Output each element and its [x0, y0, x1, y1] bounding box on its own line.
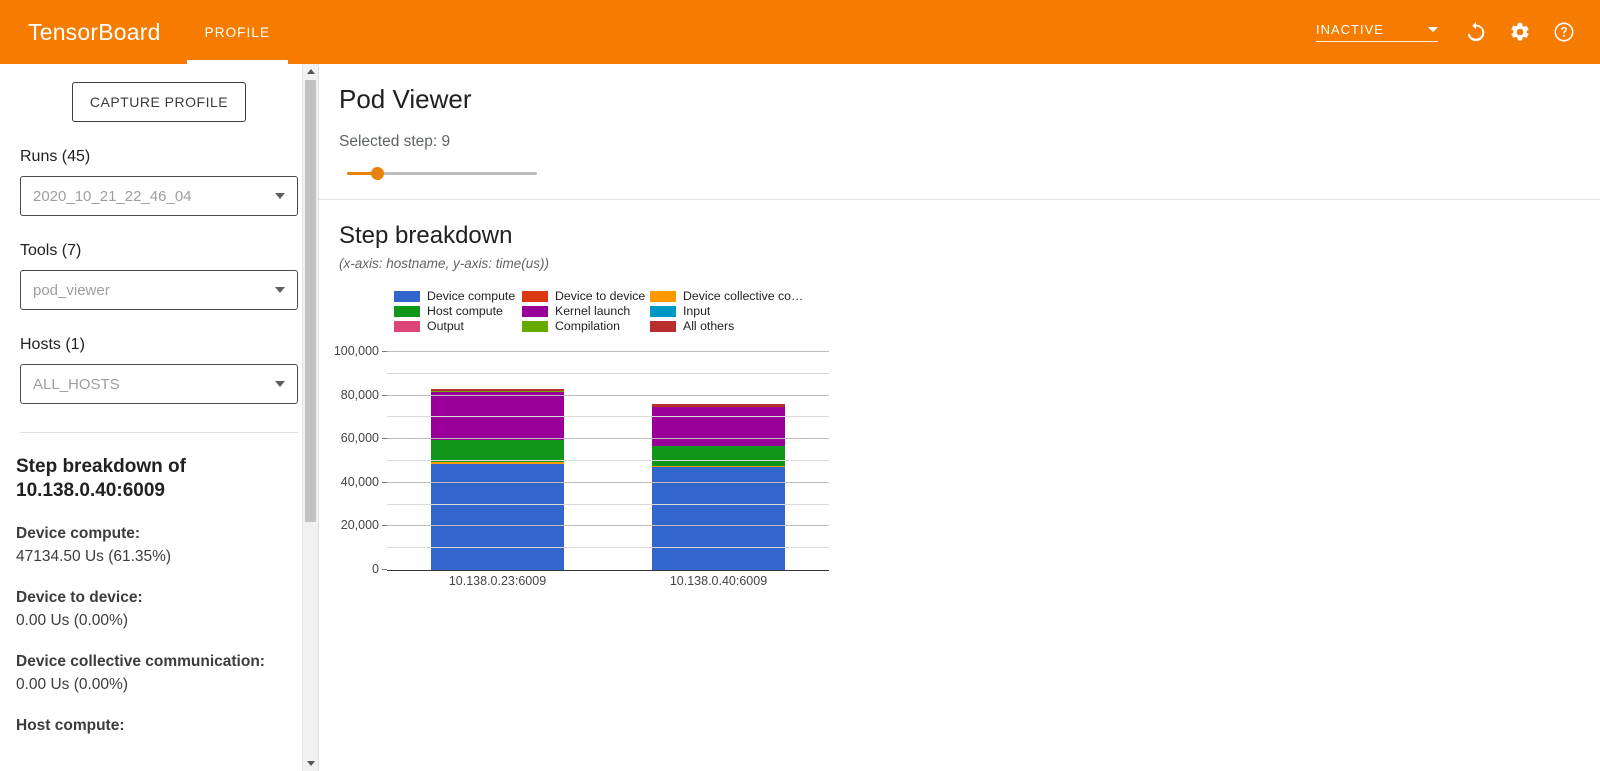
- gridline-major: 40,000: [387, 482, 829, 483]
- hosts-label: Hosts (1): [20, 336, 298, 354]
- step-slider[interactable]: [347, 165, 537, 181]
- capture-profile-button[interactable]: CAPTURE PROFILE: [72, 82, 246, 122]
- legend-swatch-icon: [394, 306, 420, 317]
- y-axis-tick-label: 100,000: [334, 344, 379, 358]
- y-tick-mark: [382, 525, 387, 526]
- gridline-minor: [387, 373, 829, 374]
- chevron-down-icon: [1428, 27, 1438, 32]
- topbar-actions: INACTIVE: [1316, 0, 1600, 64]
- help-button[interactable]: [1546, 14, 1582, 50]
- y-tick-mark: [382, 351, 387, 352]
- status-dropdown-value: INACTIVE: [1316, 22, 1384, 37]
- legend-label: Compilation: [555, 319, 620, 334]
- y-axis-tick-label: 20,000: [341, 518, 379, 532]
- caret-down-icon: [307, 761, 315, 766]
- y-axis-tick-label: 80,000: [341, 388, 379, 402]
- stat-label: Device compute:: [16, 524, 298, 545]
- x-axis-tick-label: 10.138.0.40:6009: [670, 574, 767, 588]
- tools-select[interactable]: pod_viewer: [20, 270, 298, 310]
- tools-select-value: pod_viewer: [33, 282, 110, 299]
- y-tick-mark: [382, 569, 387, 570]
- help-icon: [1553, 21, 1575, 43]
- slider-thumb[interactable]: [371, 167, 384, 180]
- gridline-major: 20,000: [387, 525, 829, 526]
- field-hosts: Hosts (1) ALL_HOSTS: [20, 336, 298, 404]
- gridline-minor: [387, 504, 829, 505]
- legend-swatch-icon: [394, 321, 420, 332]
- y-tick-mark: [382, 438, 387, 439]
- plot-area: 020,00040,00060,00080,000100,00010.138.0…: [387, 352, 829, 571]
- legend-swatch-icon: [650, 291, 676, 302]
- stat-host-compute: Host compute:: [16, 716, 298, 737]
- scrollbar-thumb[interactable]: [305, 80, 316, 522]
- app-brand: TensorBoard: [0, 0, 187, 64]
- step-breakdown-panel: Step breakdown of 10.138.0.40:6009 Devic…: [0, 433, 318, 737]
- selected-step-label: Selected step: 9: [339, 133, 1600, 151]
- legend-label: Input: [683, 304, 710, 319]
- topbar-spacer: [288, 0, 1316, 64]
- chevron-down-icon: [275, 381, 285, 387]
- bar-segment[interactable]: [431, 440, 564, 462]
- y-axis-tick-label: 60,000: [341, 431, 379, 445]
- legend-swatch-icon: [522, 291, 548, 302]
- stat-value: 0.00 Us (0.00%): [16, 673, 298, 696]
- bar-segment[interactable]: [431, 464, 564, 570]
- legend-item[interactable]: Host compute: [394, 304, 522, 319]
- scroll-down-button[interactable]: [303, 756, 318, 771]
- stat-label: Host compute:: [16, 716, 298, 737]
- gridline-minor: [387, 416, 829, 417]
- page-header: Pod Viewer Selected step: 9: [319, 64, 1600, 200]
- legend-swatch-icon: [394, 291, 420, 302]
- refresh-icon: [1465, 21, 1487, 43]
- field-tools: Tools (7) pod_viewer: [20, 242, 298, 310]
- chart-plot: 020,00040,00060,00080,000100,00010.138.0…: [339, 342, 829, 592]
- gridline-minor: [387, 460, 829, 461]
- hosts-select-value: ALL_HOSTS: [33, 376, 120, 393]
- legend-swatch-icon: [650, 321, 676, 332]
- stat-device-to-device: Device to device: 0.00 Us (0.00%): [16, 588, 298, 632]
- chart-title: Step breakdown: [339, 222, 1600, 250]
- legend-item[interactable]: Device compute: [394, 289, 522, 304]
- legend-item[interactable]: All others: [650, 319, 810, 334]
- caret-up-icon: [307, 69, 315, 74]
- gridline-major: 80,000: [387, 395, 829, 396]
- x-axis-tick-label: 10.138.0.23:6009: [449, 574, 546, 588]
- gridline-major: 60,000: [387, 438, 829, 439]
- refresh-button[interactable]: [1458, 14, 1494, 50]
- legend-label: Device compute: [427, 289, 515, 304]
- legend-item[interactable]: Compilation: [522, 319, 650, 334]
- app-body: CAPTURE PROFILE Runs (45) 2020_10_21_22_…: [0, 64, 1600, 771]
- legend-swatch-icon: [522, 306, 548, 317]
- field-runs: Runs (45) 2020_10_21_22_46_04: [20, 148, 298, 216]
- legend-label: Host compute: [427, 304, 503, 319]
- bar-group: [387, 352, 829, 570]
- legend-item[interactable]: Kernel launch: [522, 304, 650, 319]
- gridline-major: 0: [387, 569, 829, 570]
- stat-value: 47134.50 Us (61.35%): [16, 545, 298, 568]
- bar-stack[interactable]: [652, 404, 785, 570]
- runs-select-value: 2020_10_21_22_46_04: [33, 188, 192, 205]
- y-axis-tick-label: 0: [372, 562, 379, 576]
- stat-device-collective-communication: Device collective communication: 0.00 Us…: [16, 652, 298, 696]
- sidebar-scrollbar[interactable]: [302, 64, 318, 771]
- scroll-up-button[interactable]: [303, 64, 318, 79]
- legend-label: All others: [683, 319, 734, 334]
- stat-device-compute: Device compute: 47134.50 Us (61.35%): [16, 524, 298, 568]
- capture-profile-wrap: CAPTURE PROFILE: [20, 64, 298, 122]
- legend-item[interactable]: Device collective com…: [650, 289, 810, 304]
- stat-label: Device collective communication:: [16, 652, 298, 673]
- y-axis-tick-label: 40,000: [341, 475, 379, 489]
- hosts-select[interactable]: ALL_HOSTS: [20, 364, 298, 404]
- sidebar: CAPTURE PROFILE Runs (45) 2020_10_21_22_…: [0, 64, 319, 771]
- chart-subtitle: (x-axis: hostname, y-axis: time(us)): [339, 256, 1600, 271]
- chart-legend: Device computeDevice to deviceDevice col…: [394, 289, 839, 334]
- y-tick-mark: [382, 482, 387, 483]
- legend-label: Kernel launch: [555, 304, 630, 319]
- stat-value: 0.00 Us (0.00%): [16, 609, 298, 632]
- legend-swatch-icon: [522, 321, 548, 332]
- tools-label: Tools (7): [20, 242, 298, 260]
- y-tick-mark: [382, 395, 387, 396]
- settings-button[interactable]: [1502, 14, 1538, 50]
- stat-label: Device to device:: [16, 588, 298, 609]
- runs-label: Runs (45): [20, 148, 298, 166]
- legend-item[interactable]: Input: [650, 304, 810, 319]
- bar-segment[interactable]: [652, 446, 785, 466]
- legend-label: Device collective com…: [683, 289, 810, 304]
- legend-item[interactable]: Device to device: [522, 289, 650, 304]
- sidebar-controls: CAPTURE PROFILE Runs (45) 2020_10_21_22_…: [0, 64, 318, 433]
- main-content: Pod Viewer Selected step: 9 Step breakdo…: [319, 64, 1600, 771]
- legend-label: Device to device: [555, 289, 645, 304]
- chevron-down-icon: [275, 193, 285, 199]
- top-bar: TensorBoard PROFILE INACTIVE: [0, 0, 1600, 64]
- runs-select[interactable]: 2020_10_21_22_46_04: [20, 176, 298, 216]
- legend-item[interactable]: Output: [394, 319, 522, 334]
- status-dropdown[interactable]: INACTIVE: [1316, 22, 1438, 42]
- nav-tabs: PROFILE: [187, 0, 288, 64]
- step-breakdown-title: Step breakdown of 10.138.0.40:6009: [16, 455, 298, 504]
- bar-segment[interactable]: [652, 407, 785, 446]
- step-breakdown-chart-card: Step breakdown (x-axis: hostname, y-axis…: [319, 200, 1600, 592]
- page-title: Pod Viewer: [339, 84, 1600, 115]
- legend-swatch-icon: [650, 306, 676, 317]
- gear-icon: [1509, 21, 1531, 43]
- tab-profile[interactable]: PROFILE: [187, 0, 288, 64]
- gridline-major: 100,000: [387, 351, 829, 352]
- gridline-minor: [387, 547, 829, 548]
- tab-profile-label: PROFILE: [205, 25, 270, 40]
- chevron-down-icon: [275, 287, 285, 293]
- legend-label: Output: [427, 319, 464, 334]
